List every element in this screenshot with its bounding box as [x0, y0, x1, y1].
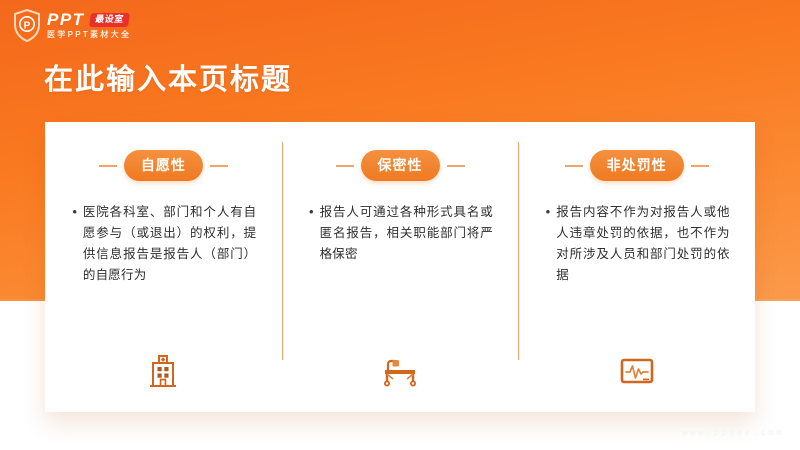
shield-logo-icon: P [13, 9, 41, 42]
svg-text:P: P [24, 20, 31, 31]
brand-name: PPT [47, 11, 85, 28]
pill-label-1[interactable]: 自愿性 [124, 150, 203, 181]
brand-tagline: 医学PPT素材大全 [47, 31, 131, 39]
slide-canvas: P PPT 最设室 医学PPT素材大全 在此输入本页标题 自愿性 • [0, 0, 800, 450]
brand-logo[interactable]: P PPT 最设室 医学PPT素材大全 [13, 7, 131, 43]
site-watermark: www.ppter.com [682, 428, 784, 438]
heading-line-right-icon [210, 165, 228, 167]
column-heading-2: 保密性 [296, 150, 505, 181]
bullet-item-3: • 报告内容不作为对报告人或他人违章处罚的依据，也不作为对所涉及人员和部门处罚的… [544, 201, 730, 285]
bullet-item-2: • 报告人可通过各种形式具名或匿名报告，相关职能部门将严格保密 [307, 201, 493, 264]
bullet-marker-icon: • [544, 201, 551, 222]
content-card: 自愿性 • 医院各科室、部门和个人有自愿参与（或退出）的权利，提供信息报告是报告… [45, 122, 755, 412]
brand-logo-text: PPT 最设室 医学PPT素材大全 [47, 11, 131, 39]
bullet-text-1: 医院各科室、部门和个人有自愿参与（或退出）的权利，提供信息报告是报告人（部门）的… [83, 201, 256, 285]
heading-line-right-icon [691, 165, 709, 167]
pill-label-3[interactable]: 非处罚性 [590, 150, 684, 181]
pill-label-2[interactable]: 保密性 [361, 150, 440, 181]
heading-line-left-icon [336, 165, 354, 167]
page-title: 在此输入本页标题 [44, 56, 292, 98]
bullet-item-1: • 医院各科室、部门和个人有自愿参与（或退出）的权利，提供信息报告是报告人（部门… [70, 201, 256, 285]
column-heading-3: 非处罚性 [532, 150, 741, 181]
brand-badge: 最设室 [89, 13, 129, 27]
columns-container: 自愿性 • 医院各科室、部门和个人有自愿参与（或退出）的权利，提供信息报告是报告… [45, 122, 755, 412]
column-heading-1: 自愿性 [59, 150, 268, 181]
heading-line-left-icon [565, 165, 583, 167]
heading-line-right-icon [447, 165, 465, 167]
bullet-marker-icon: • [70, 201, 77, 222]
heading-line-left-icon [99, 165, 117, 167]
hospital-bed-icon [282, 352, 519, 390]
column-voluntariness: 自愿性 • 医院各科室、部门和个人有自愿参与（或退出）的权利，提供信息报告是报告… [45, 122, 282, 412]
bullet-text-3: 报告内容不作为对报告人或他人违章处罚的依据，也不作为对所涉及人员和部门处罚的依据 [556, 201, 729, 285]
column-confidentiality: 保密性 • 报告人可通过各种形式具名或匿名报告，相关职能部门将严格保密 [282, 122, 519, 412]
bullet-marker-icon: • [307, 201, 314, 222]
bullet-text-2: 报告人可通过各种形式具名或匿名报告，相关职能部门将严格保密 [320, 201, 493, 264]
column-non-punitive: 非处罚性 • 报告内容不作为对报告人或他人违章处罚的依据，也不作为对所涉及人员和… [518, 122, 755, 412]
ecg-monitor-icon [518, 356, 755, 390]
hospital-building-icon [45, 352, 282, 390]
